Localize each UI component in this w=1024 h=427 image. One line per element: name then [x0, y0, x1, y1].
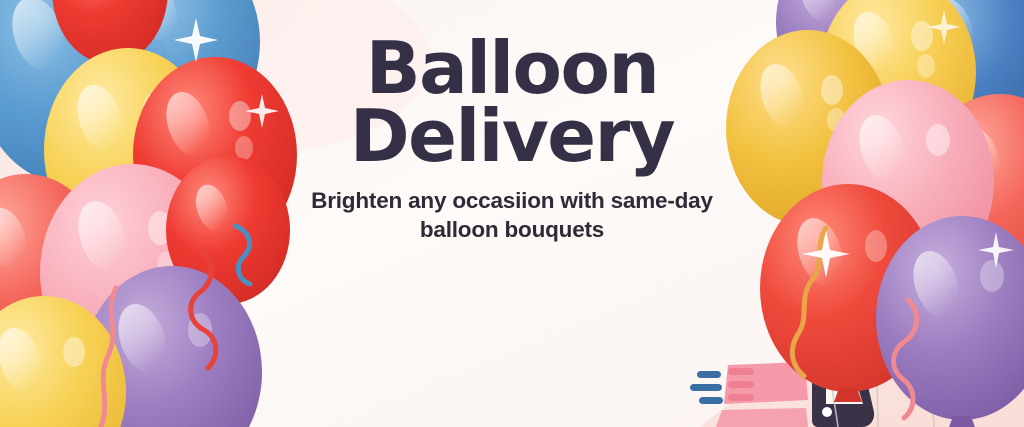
- balloon-delivery-banner: Balloon Delivery Brighten any occasiion …: [0, 0, 1024, 427]
- right-balloon-cluster: [0, 0, 1024, 427]
